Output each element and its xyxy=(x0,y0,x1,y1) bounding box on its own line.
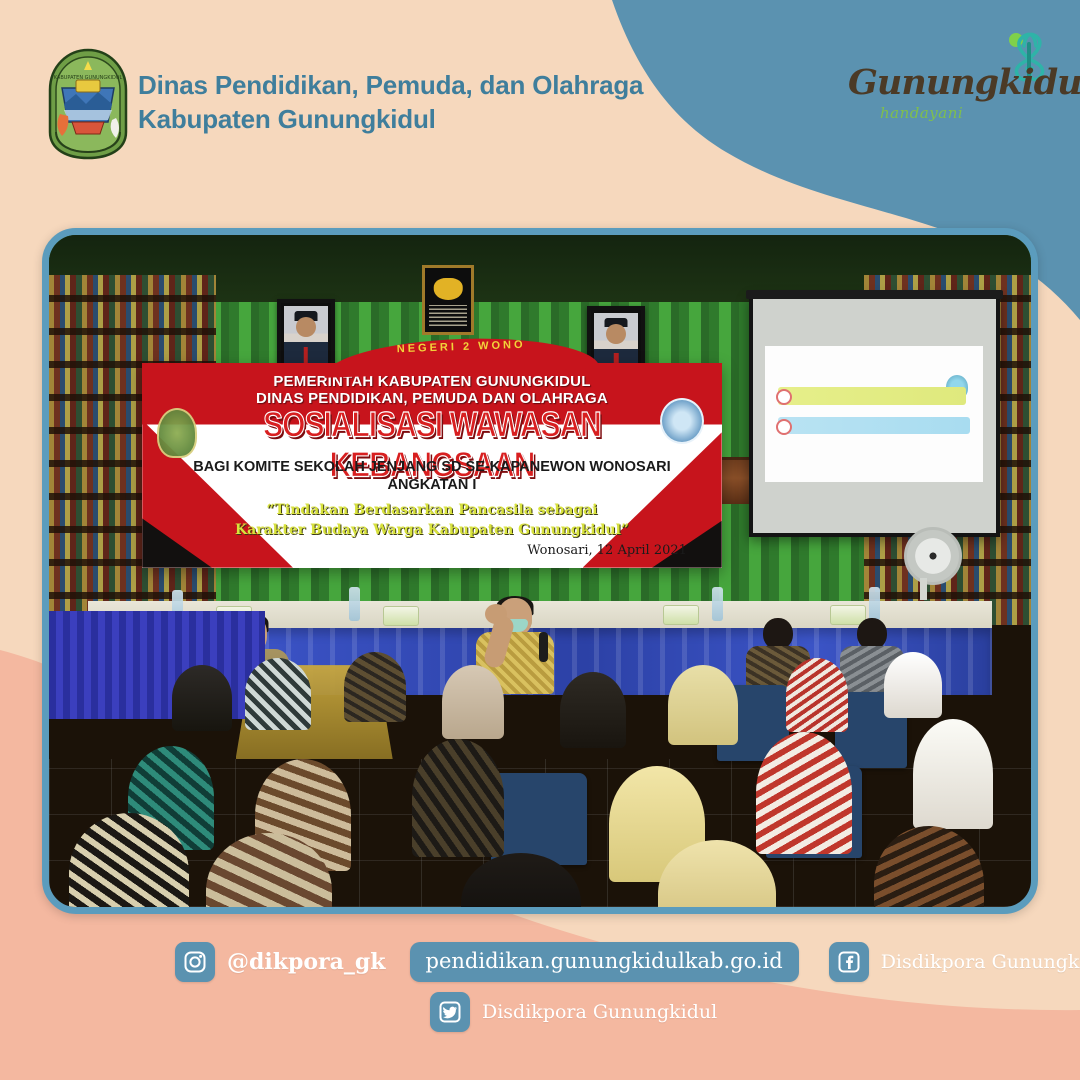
audience-member xyxy=(245,658,311,730)
org-title-line-2: Kabupaten Gunungkidul xyxy=(138,102,758,136)
gunungkidul-regency-coat-of-arms: KABUPATEN GUNUNGKIDUL xyxy=(46,48,130,160)
snack-box xyxy=(383,606,419,626)
banner-quote-line-2: Karakter Budaya Warga Kabupaten Gunungki… xyxy=(189,522,676,538)
garuda-pancasila-emblem xyxy=(422,265,474,335)
twitter-page-name[interactable]: Disdikpora Gunungkidul xyxy=(482,1001,717,1023)
audience-member xyxy=(913,719,993,829)
audience-member xyxy=(668,665,738,745)
audience-member xyxy=(786,658,848,732)
audience-member xyxy=(412,739,504,857)
facebook-icon[interactable] xyxy=(829,942,869,982)
water-bottle xyxy=(349,587,360,621)
banner-date: Wonosari, 12 April 2021 xyxy=(527,543,687,558)
twitter-icon[interactable] xyxy=(430,992,470,1032)
brand-wordmark: Gunungkidul xyxy=(848,62,1046,103)
org-title-line-1: Dinas Pendidikan, Pemuda, dan Olahraga xyxy=(138,68,758,102)
event-banner: PEMERINTAH KABUPATEN GUNUNGKIDUL DINAS P… xyxy=(142,363,721,568)
website-url[interactable]: pendidikan.gunungkidulkab.go.id xyxy=(410,942,799,982)
audience-member xyxy=(560,672,626,748)
brand-tagline: handayani xyxy=(880,104,963,122)
audience-member xyxy=(442,665,504,739)
page-title: Dinas Pendidikan, Pemuda, dan Olahraga K… xyxy=(138,68,758,136)
projector-screen xyxy=(749,295,999,537)
banner-quote-line-1: “Tindakan Berdasarkan Pancasila sebagai xyxy=(189,502,676,518)
event-photo-card: PEMERINTAH KABUPATEN GUNUNGKIDUL DINAS P… xyxy=(42,228,1038,914)
audience-member xyxy=(756,732,852,854)
snack-box xyxy=(663,605,699,625)
gunungkidul-brand-logo: Gunungkidul handayani xyxy=(840,28,1062,136)
water-bottle xyxy=(712,587,723,621)
instagram-icon[interactable] xyxy=(175,942,215,982)
water-bottle xyxy=(869,587,880,621)
audience-member xyxy=(172,665,232,731)
banner-line-2: DINAS PENDIDIKAN, PEMUDA DAN OLAHRAGA xyxy=(177,390,687,407)
blue-curtain xyxy=(49,611,265,719)
banner-line-4: ANGKATAN I xyxy=(177,477,687,493)
social-footer: @dikpora_gk pendidikan.gunungkidulkab.go… xyxy=(0,930,1080,1080)
instagram-handle[interactable]: @dikpora_gk xyxy=(227,949,386,975)
audience-member xyxy=(884,652,942,718)
audience-member xyxy=(344,652,406,722)
banner-line-3: BAGI KOMITE SEKOLAH JENJANG SD SE-KAPANE… xyxy=(177,459,687,475)
poster-header: KABUPATEN GUNUNGKIDUL Dinas Pendidikan, … xyxy=(0,0,1080,200)
event-photo: PEMERINTAH KABUPATEN GUNUNGKIDUL DINAS P… xyxy=(49,235,1031,907)
fan-stem xyxy=(920,578,927,600)
facebook-page-name[interactable]: Disdikpora Gunungkidul xyxy=(881,951,1080,973)
chair xyxy=(491,773,587,865)
poster-canvas: KABUPATEN GUNUNGKIDUL Dinas Pendidikan, … xyxy=(0,0,1080,1080)
banner-line-1: PEMERINTAH KABUPATEN GUNUNGKIDUL xyxy=(177,373,687,390)
